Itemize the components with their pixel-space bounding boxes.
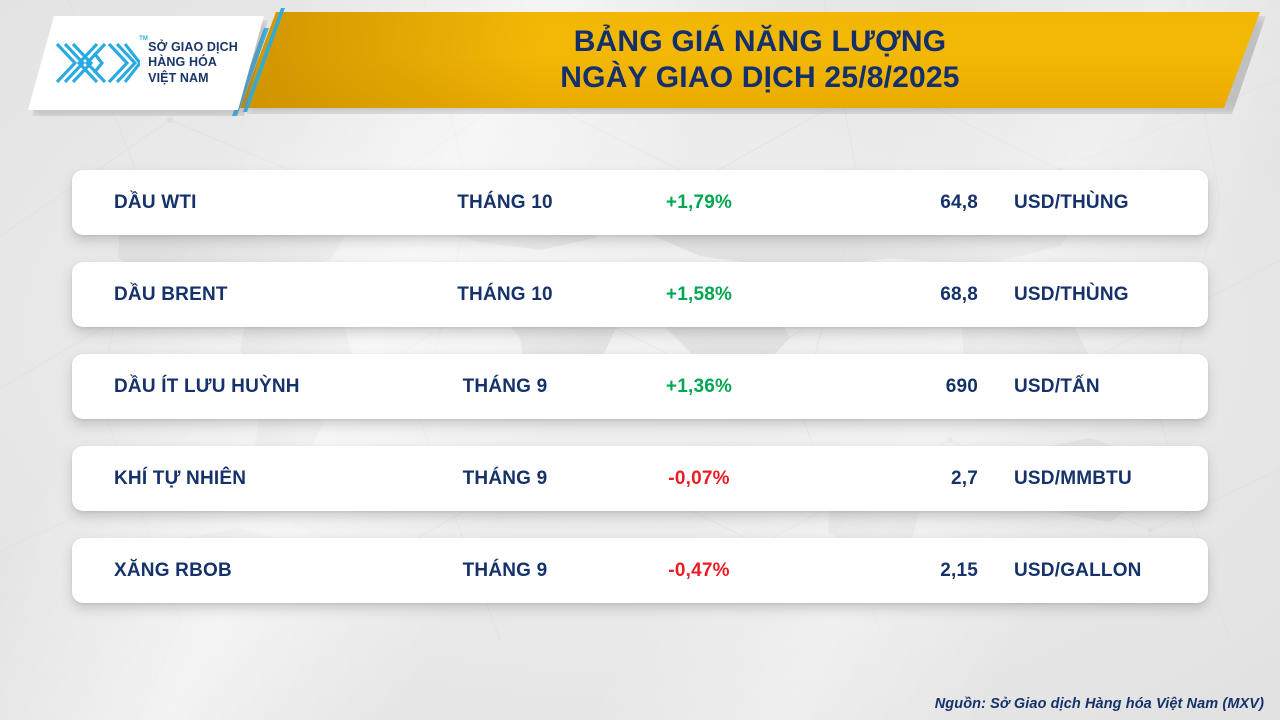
commodity-name: KHÍ TỰ NHIÊN [72,468,402,490]
price-unit: USD/THÙNG [978,192,1129,214]
contract-month: THÁNG 9 [402,560,608,582]
table-row[interactable]: XĂNG RBOBTHÁNG 9-0,47%2,15USD/GALLON [72,538,1208,603]
logo-plate: TM SỞ GIAO DỊCH HÀNG HÓA VIỆT NAM [28,16,264,110]
price-unit: USD/MMBTU [978,468,1132,490]
page-title: BẢNG GIÁ NĂNG LƯỢNG NGÀY GIAO DỊCH 25/8/… [300,14,1220,106]
commodity-name: DẦU ÍT LƯU HUỲNH [72,376,402,398]
header: BẢNG GIÁ NĂNG LƯỢNG NGÀY GIAO DỊCH 25/8/… [0,0,1280,125]
table-row[interactable]: KHÍ TỰ NHIÊNTHÁNG 9-0,07%2,7USD/MMBTU [72,446,1208,511]
contract-month: THÁNG 10 [402,192,608,214]
logo-wordmark: TM SỞ GIAO DỊCH HÀNG HÓA VIỆT NAM [148,40,238,87]
change-percent: +1,36% [608,376,790,398]
change-percent: -0,07% [608,468,790,490]
change-percent: +1,79% [608,192,790,214]
contract-month: THÁNG 9 [402,468,608,490]
table-row[interactable]: DẦU BRENTTHÁNG 10+1,58%68,8USD/THÙNG [72,262,1208,327]
commodity-name: XĂNG RBOB [72,560,402,582]
table-row[interactable]: DẦU WTITHÁNG 10+1,79%64,8USD/THÙNG [72,170,1208,235]
mxv-chevron-logo-icon [54,40,140,86]
commodity-name: DẦU WTI [72,192,402,214]
source-note: Nguồn: Sở Giao dịch Hàng hóa Việt Nam (M… [935,696,1264,712]
contract-month: THÁNG 10 [402,284,608,306]
logo-line-3: VIỆT NAM [148,71,238,87]
change-percent: -0,47% [608,560,790,582]
price-value: 2,15 [790,560,978,582]
price-value: 690 [790,376,978,398]
trademark-icon: TM [139,36,148,43]
logo-line-2: HÀNG HÓA [148,55,238,71]
price-table: DẦU WTITHÁNG 10+1,79%64,8USD/THÙNGDẦU BR… [0,170,1280,630]
price-value: 64,8 [790,192,978,214]
price-value: 68,8 [790,284,978,306]
page-title-line2: NGÀY GIAO DỊCH 25/8/2025 [560,62,959,94]
contract-month: THÁNG 9 [402,376,608,398]
commodity-name: DẦU BRENT [72,284,402,306]
price-unit: USD/THÙNG [978,284,1129,306]
table-row[interactable]: DẦU ÍT LƯU HUỲNHTHÁNG 9+1,36%690USD/TẤN [72,354,1208,419]
logo-line-1: SỞ GIAO DỊCH [148,40,238,56]
price-value: 2,7 [790,468,978,490]
price-unit: USD/TẤN [978,376,1100,398]
page-title-line1: BẢNG GIÁ NĂNG LƯỢNG [574,26,947,58]
change-percent: +1,58% [608,284,790,306]
price-unit: USD/GALLON [978,560,1142,582]
